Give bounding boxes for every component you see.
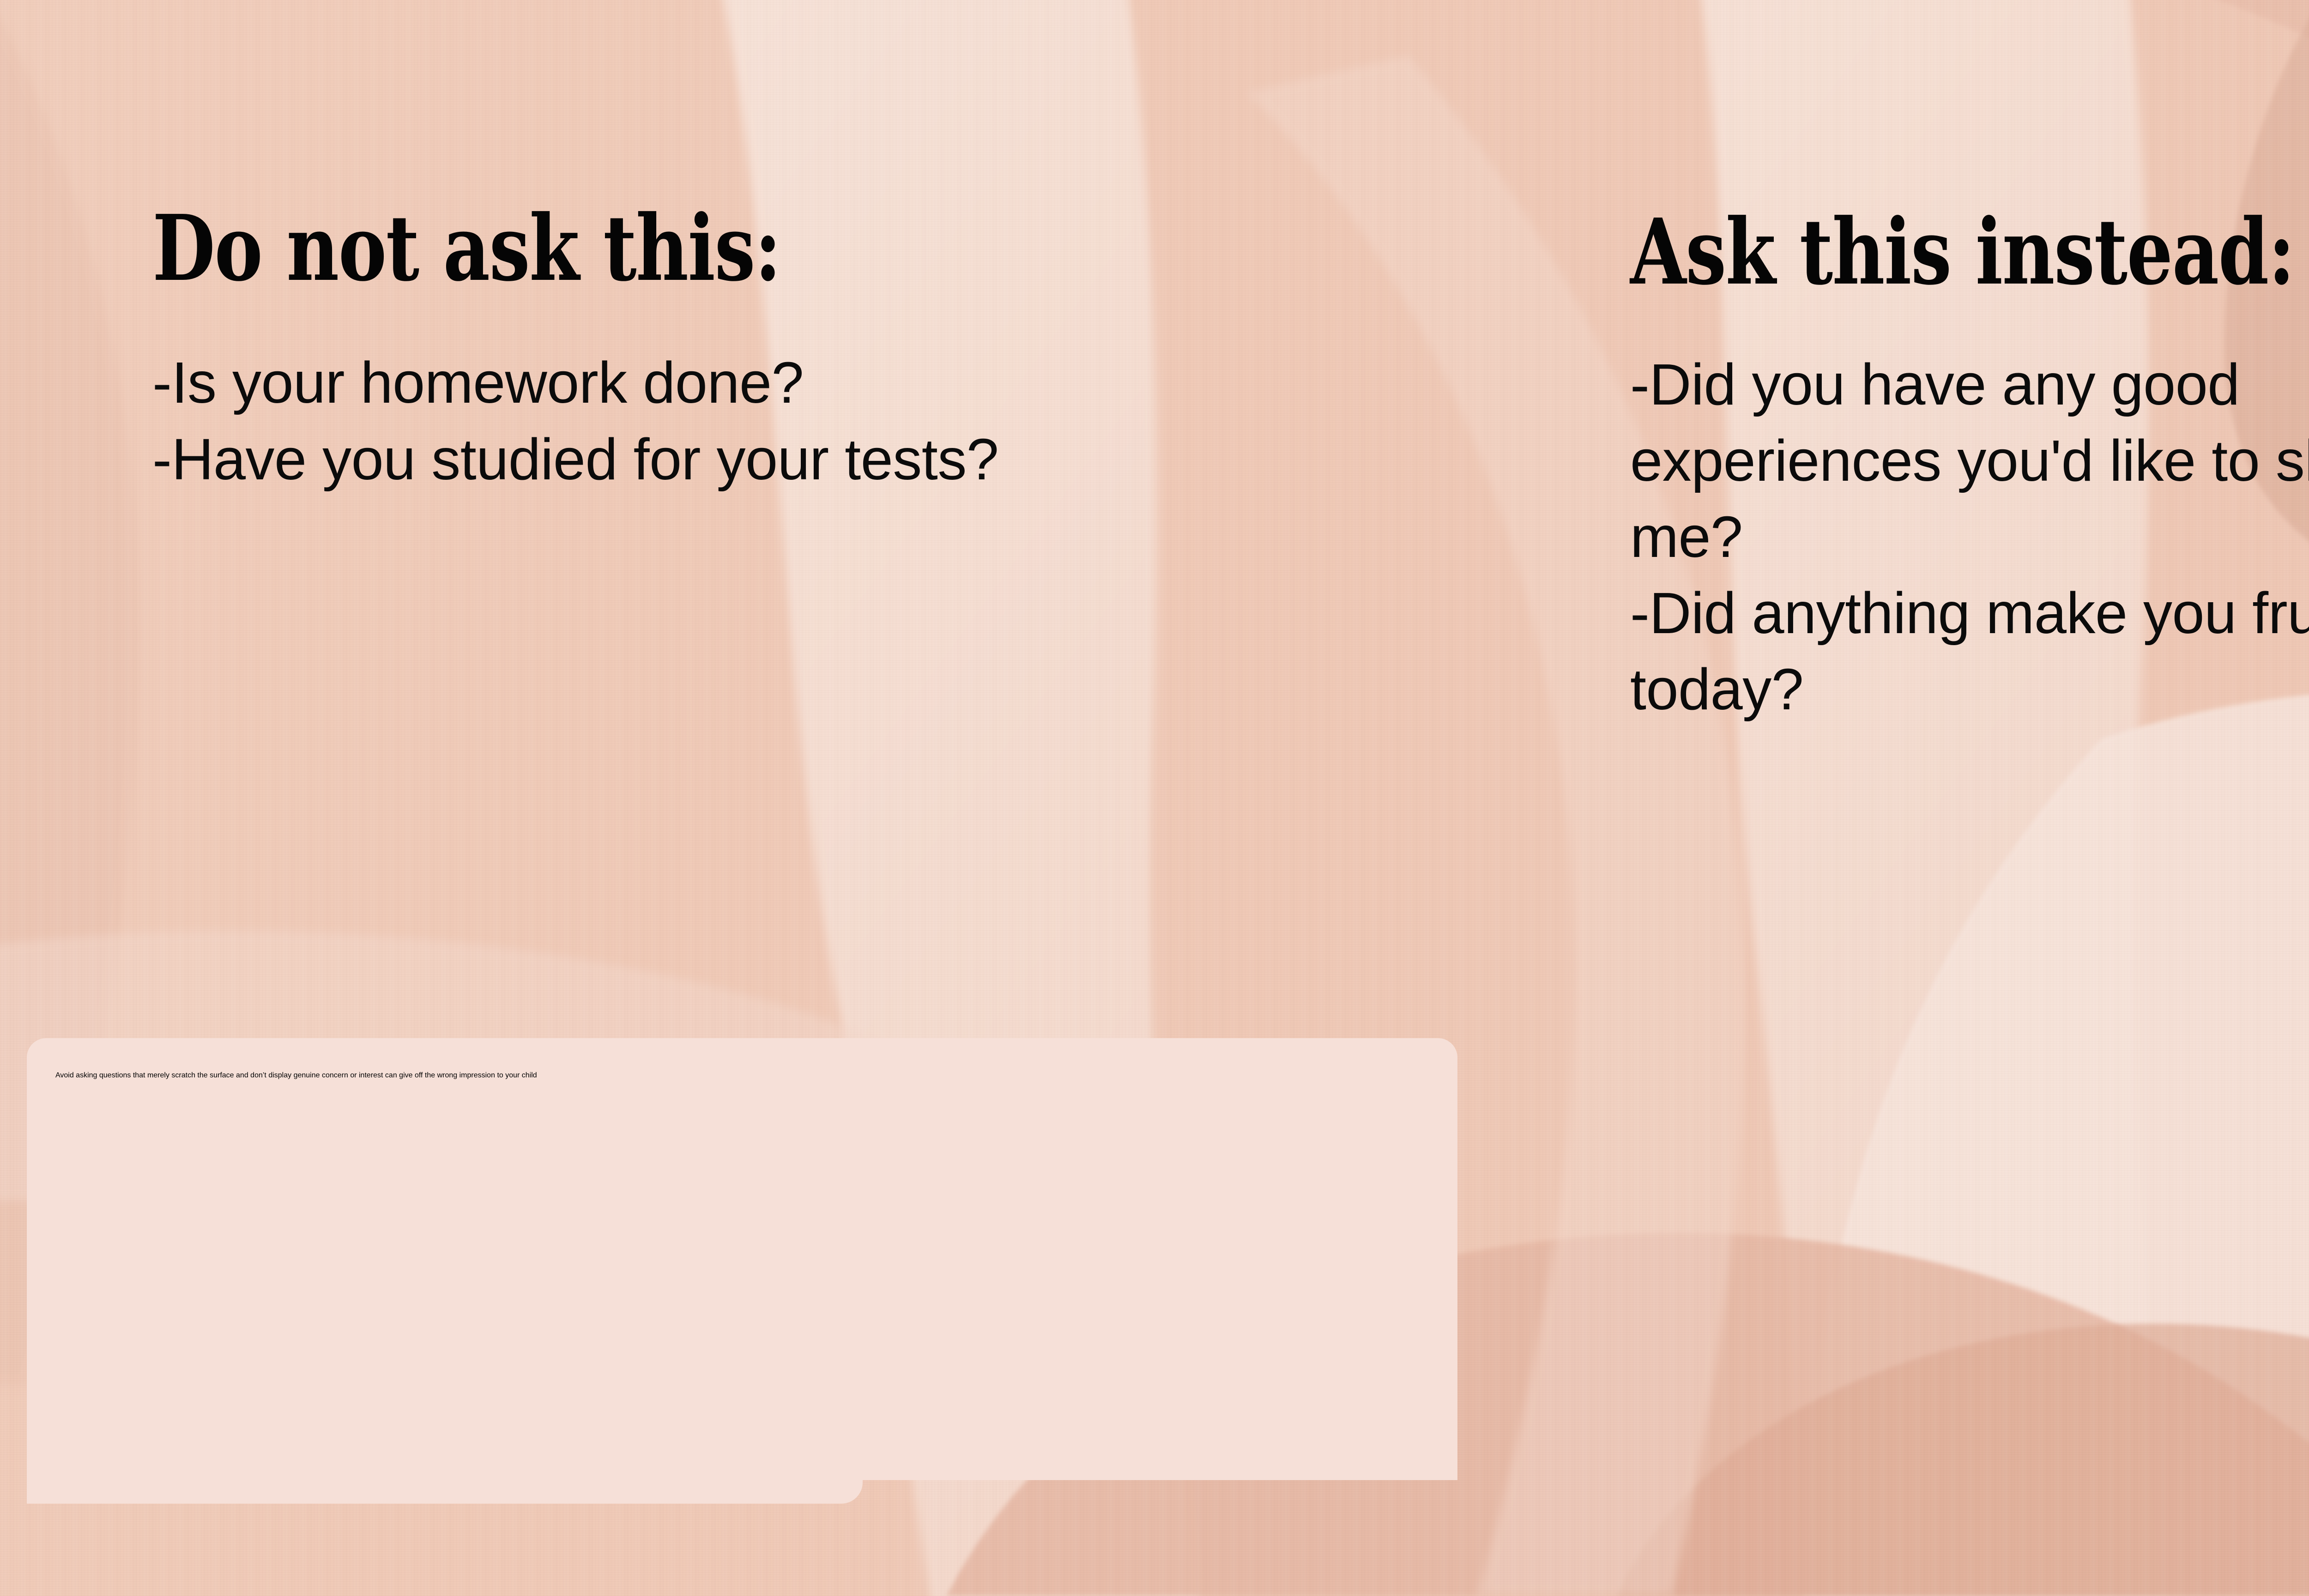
note-highlight-plate	[27, 1038, 1457, 1480]
right-column-question-list: -Did you have any good experiences you'd…	[1630, 346, 2309, 727]
note-line: display genuine concern or interest	[268, 1071, 383, 1079]
list-item: me?	[1630, 499, 2309, 575]
list-item: -Did anything make you frustrated	[1630, 575, 2309, 651]
list-item: -Did you have any good	[1630, 346, 2309, 423]
left-column: Do not ask this: -Is your homework done?…	[152, 203, 1561, 498]
note-line: Avoid asking questions that merely	[55, 1071, 169, 1079]
left-column-heading: Do not ask this:	[152, 203, 1279, 294]
left-column-question-list: -Is your homework done? -Have you studie…	[152, 345, 1561, 498]
list-item: -Is your homework done?	[152, 345, 1561, 421]
right-column-heading: Ask this instead:	[1630, 207, 2309, 297]
right-column: Ask this instead: -Did you have any good…	[1630, 207, 2309, 727]
note-line: to your child	[497, 1071, 537, 1079]
advice-note: Avoid asking questions that merely scrat…	[55, 1071, 1450, 1080]
note-line: can give off the wrong impression	[385, 1071, 495, 1079]
list-item: today?	[1630, 651, 2309, 727]
note-highlight-plate-tail	[27, 1455, 863, 1504]
list-item: experiences you'd like to share with	[1630, 423, 2309, 499]
note-line: scratch the surface and don’t	[171, 1071, 266, 1079]
list-item: -Have you studied for your tests?	[152, 421, 1561, 498]
